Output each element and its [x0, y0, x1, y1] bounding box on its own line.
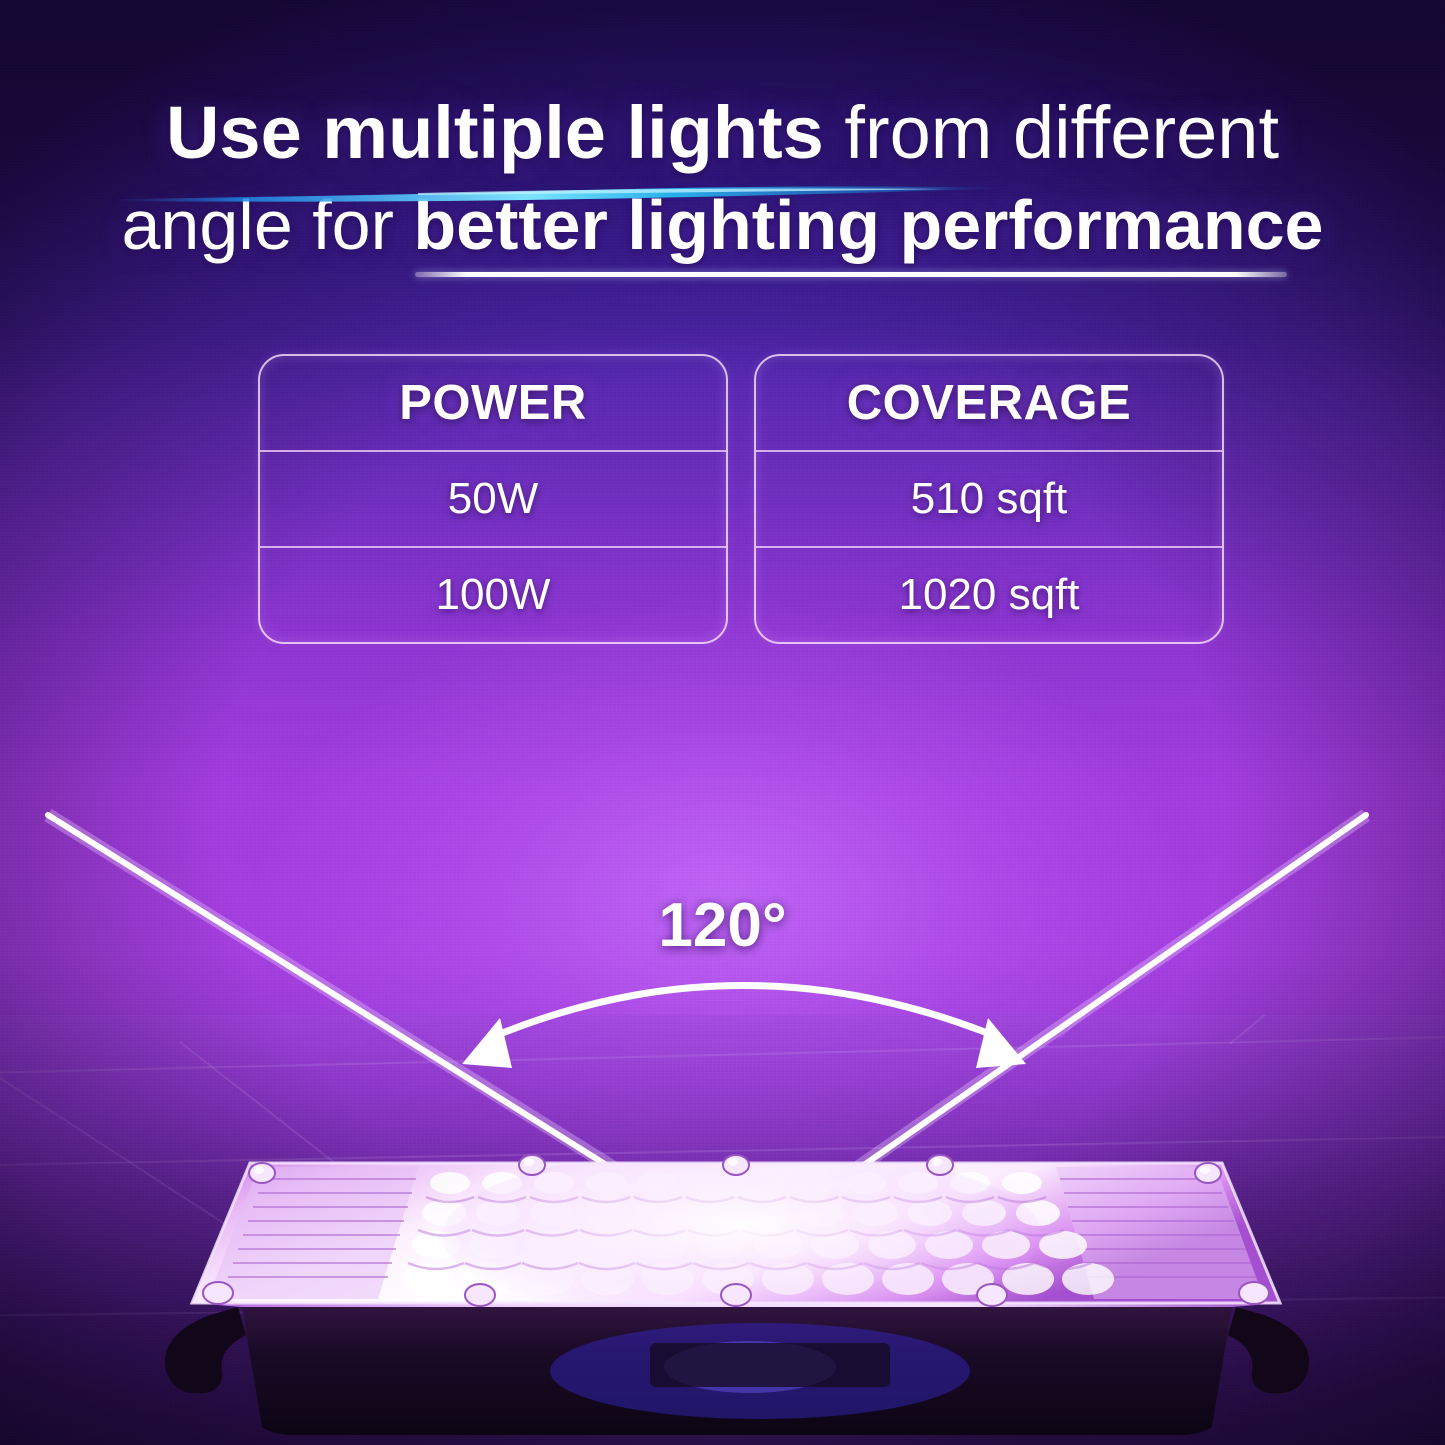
- product-feature-image: Use multiple lights from different angle…: [0, 0, 1445, 1445]
- angle-label: 120°: [0, 890, 1445, 961]
- led-floodlight: [150, 1135, 1320, 1435]
- lamp-housing-plate: [650, 1343, 890, 1387]
- mount-bracket-left: [165, 1307, 246, 1394]
- angle-arrow-right: [976, 1018, 1026, 1068]
- mount-bracket-right: [1228, 1307, 1309, 1394]
- angle-arrow-left: [462, 1018, 512, 1068]
- angle-arc: [495, 986, 995, 1037]
